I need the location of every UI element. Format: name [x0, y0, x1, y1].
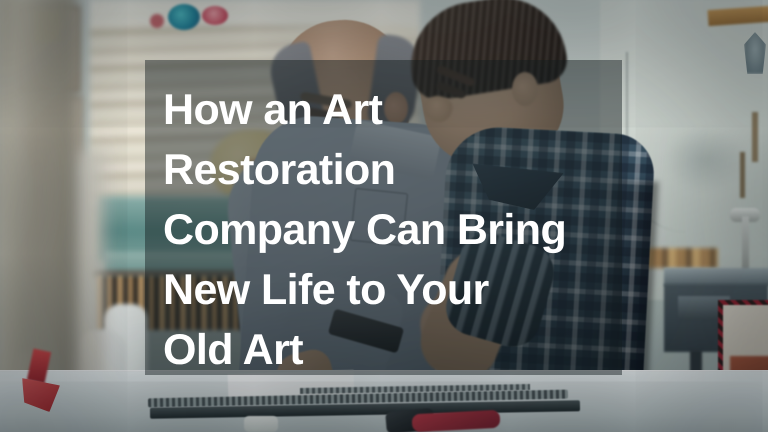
lamp-stem	[742, 216, 749, 272]
slim-tool-2	[740, 152, 745, 198]
hero-banner: How an Art Restoration Company Can Bring…	[0, 0, 768, 432]
wall-smudge	[664, 128, 748, 192]
slim-tool-1	[752, 112, 758, 162]
teal-sticker	[168, 4, 200, 30]
white-cap	[244, 416, 278, 432]
small-red-sticker	[150, 14, 164, 28]
page-title: How an Art Restoration Company Can Bring…	[163, 80, 633, 380]
red-sticker	[202, 6, 228, 25]
